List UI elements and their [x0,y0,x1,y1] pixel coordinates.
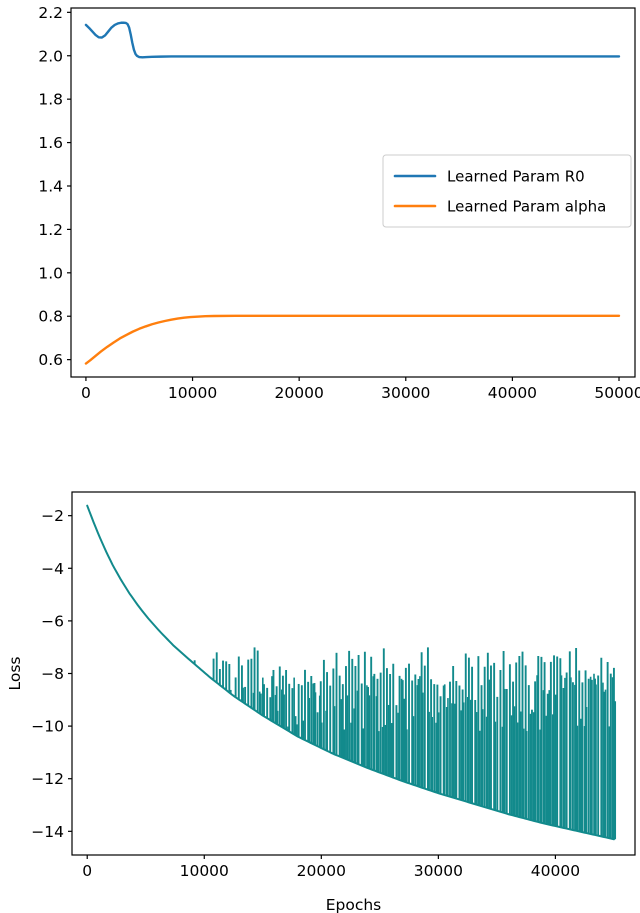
legend-label-1: Learned Param alpha [447,198,606,216]
y-tick-label: 0.6 [38,351,63,369]
y-tick-label: 2.0 [38,47,63,65]
learned-parameters-plot: 010000200003000040000500000.60.81.01.21.… [0,0,640,440]
x-tick-label: 20000 [297,862,346,880]
x-tick-label: 10000 [180,862,229,880]
y-tick-label: −14 [31,823,64,841]
training-loss-svg: 010000200003000040000−2−4−6−8−10−12−14Ep… [0,440,640,913]
x-tick-label: 40000 [531,862,580,880]
x-tick-label: 40000 [488,384,537,402]
y-tick-label: −4 [41,560,64,578]
y-tick-label: 1.6 [38,134,63,152]
legend-label-0: Learned Param R0 [447,168,585,186]
x-tick-label: 0 [81,384,91,402]
loss-series [87,506,615,840]
y-tick-label: −6 [41,612,64,630]
series-line-r0 [86,23,619,58]
x-tick-label: 30000 [414,862,463,880]
y-tick-label: −8 [41,665,64,683]
series-line-alpha [86,316,619,364]
x-tick-label: 10000 [168,384,217,402]
y-axis-title: Loss [6,657,24,691]
y-tick-label: 1.2 [38,221,63,239]
x-tick-label: 30000 [381,384,430,402]
y-tick-label: 1.4 [38,177,63,195]
training-loss-plot: 010000200003000040000−2−4−6−8−10−12−14Ep… [0,440,640,913]
y-tick-label: 0.8 [38,308,63,326]
y-tick-label: −2 [41,507,64,525]
x-tick-label: 20000 [275,384,324,402]
figure-container: 010000200003000040000500000.60.81.01.21.… [0,0,640,913]
x-axis-title: Epochs [326,896,382,913]
x-tick-label: 50000 [594,384,640,402]
y-tick-label: 1.0 [38,264,63,282]
legend-box [383,155,631,227]
y-tick-label: 2.2 [38,4,63,22]
y-tick-label: −12 [31,770,64,788]
x-tick-label: 0 [82,862,92,880]
y-tick-label: −10 [31,718,64,736]
y-tick-label: 1.8 [38,91,63,109]
learned-parameters-svg: 010000200003000040000500000.60.81.01.21.… [0,0,640,440]
